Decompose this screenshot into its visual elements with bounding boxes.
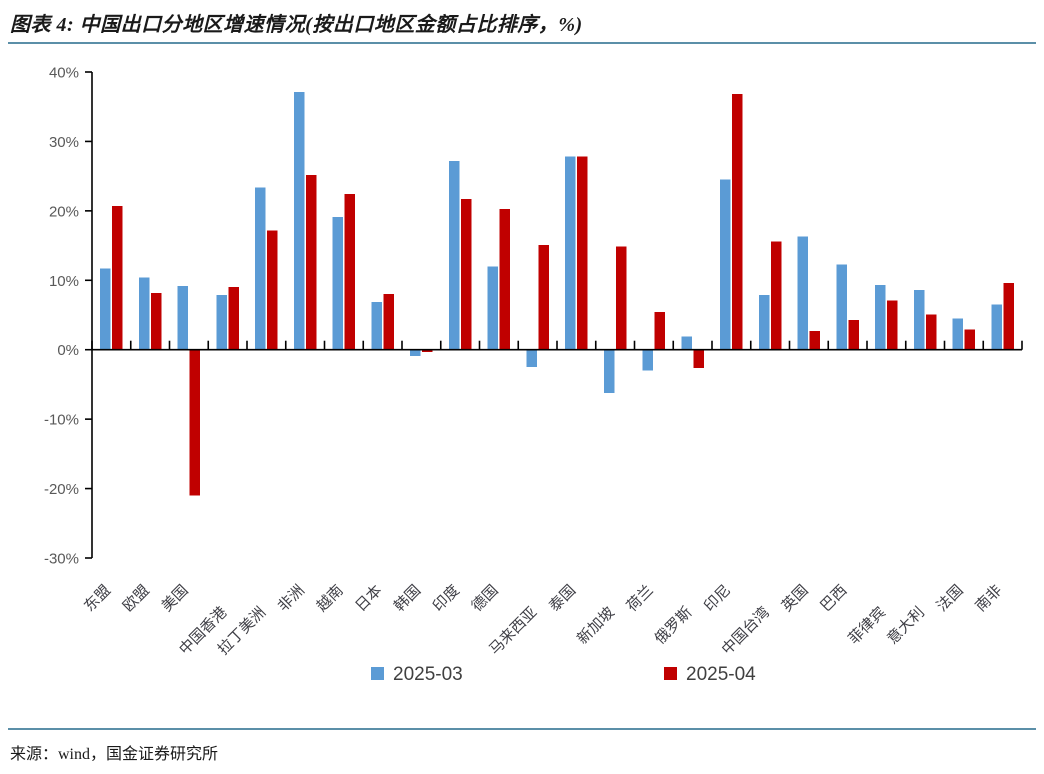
x-tick-label-欧盟: 欧盟 bbox=[120, 582, 153, 615]
y-tick-label: -20% bbox=[44, 481, 79, 498]
bar-2025-03-荷兰 bbox=[643, 350, 654, 371]
bar-2025-04-中国台湾 bbox=[771, 241, 782, 349]
bar-2025-03-南非 bbox=[991, 305, 1002, 350]
bar-2025-04-美国 bbox=[190, 350, 201, 496]
bar-2025-04-东盟 bbox=[112, 206, 123, 350]
bar-2025-04-马来西亚 bbox=[538, 245, 549, 350]
x-tick-label-东盟: 东盟 bbox=[81, 582, 114, 615]
bar-2025-03-韩国 bbox=[410, 350, 421, 356]
x-tick-label-英国: 英国 bbox=[778, 581, 812, 615]
x-tick-label-日本: 日本 bbox=[352, 582, 385, 615]
bar-2025-03-印度 bbox=[449, 161, 460, 350]
x-tick-label-泰国: 泰国 bbox=[546, 582, 579, 615]
x-tick-label-意大利: 意大利 bbox=[883, 603, 928, 648]
bar-2025-04-巴西 bbox=[848, 320, 859, 350]
header-divider bbox=[8, 42, 1036, 44]
source-note: 来源：wind，国金证券研究所 bbox=[10, 740, 218, 764]
chart-legend: 2025-032025-04 bbox=[371, 664, 756, 685]
bar-2025-04-法国 bbox=[965, 330, 976, 350]
bar-2025-04-菲律宾 bbox=[887, 300, 898, 349]
bar-2025-04-日本 bbox=[383, 294, 394, 350]
bar-2025-03-泰国 bbox=[565, 157, 576, 350]
bar-2025-03-英国 bbox=[798, 237, 809, 350]
x-tick-labels: 东盟欧盟美国中国香港拉丁美洲非洲越南日本韩国印度德国马来西亚泰国新加坡荷兰俄罗斯… bbox=[81, 581, 1005, 658]
bar-2025-04-新加坡 bbox=[616, 246, 627, 349]
x-tick-label-中国台湾: 中国台湾 bbox=[718, 604, 772, 658]
x-tick-label-德国: 德国 bbox=[468, 581, 502, 615]
chart-header: 图表 4: 中国出口分地区增速情况(按出口地区金额占比排序，%) bbox=[0, 0, 1044, 46]
bar-2025-04-拉丁美洲 bbox=[267, 230, 278, 349]
x-tick-label-荷兰: 荷兰 bbox=[623, 582, 656, 615]
bar-2025-03-越南 bbox=[333, 217, 344, 350]
x-tick-label-俄罗斯: 俄罗斯 bbox=[652, 604, 696, 648]
bar-2025-04-德国 bbox=[500, 209, 511, 350]
bar-2025-04-印度 bbox=[461, 199, 472, 350]
y-axis: 40%30%20%10%0%-10%-20%-30% bbox=[44, 65, 92, 568]
chart-page: 图表 4: 中国出口分地区增速情况(按出口地区金额占比排序，%) 40%30%2… bbox=[0, 0, 1044, 774]
x-tick-label-菲律宾: 菲律宾 bbox=[845, 604, 889, 648]
x-tick-label-美国: 美国 bbox=[158, 582, 191, 615]
x-tick-label-印度: 印度 bbox=[430, 582, 463, 615]
legend-swatch-2025-03 bbox=[371, 667, 384, 680]
bar-2025-04-南非 bbox=[1003, 283, 1014, 350]
bars-layer bbox=[100, 92, 1014, 495]
y-tick-label: -10% bbox=[44, 412, 79, 429]
bar-2025-03-东盟 bbox=[100, 268, 111, 349]
bar-2025-03-非洲 bbox=[294, 92, 305, 350]
x-tick-label-印尼: 印尼 bbox=[701, 582, 734, 615]
x-tick-label-南非: 南非 bbox=[972, 582, 1005, 615]
bar-2025-04-中国香港 bbox=[228, 287, 239, 349]
legend-label-2025-04: 2025-04 bbox=[686, 664, 756, 685]
x-tick-label-新加坡: 新加坡 bbox=[574, 604, 618, 648]
bar-2025-03-俄罗斯 bbox=[681, 337, 692, 350]
bar-2025-04-荷兰 bbox=[655, 312, 666, 349]
bar-2025-04-印尼 bbox=[732, 94, 743, 350]
page-title: 图表 4: 中国出口分地区增速情况(按出口地区金额占比排序，%) bbox=[10, 8, 583, 37]
bar-2025-03-菲律宾 bbox=[875, 285, 886, 350]
x-tick-label-非洲: 非洲 bbox=[275, 582, 308, 615]
bar-2025-03-法国 bbox=[953, 318, 964, 349]
y-tick-label: 0% bbox=[57, 342, 79, 359]
bar-2025-03-美国 bbox=[178, 286, 189, 350]
x-tick-label-韩国: 韩国 bbox=[391, 582, 424, 615]
legend-label-2025-03: 2025-03 bbox=[393, 664, 463, 685]
bar-chart: 40%30%20%10%0%-10%-20%-30% 东盟欧盟美国中国香港拉丁美… bbox=[0, 46, 1044, 728]
y-tick-label: 40% bbox=[49, 65, 79, 82]
bar-2025-04-意大利 bbox=[926, 314, 937, 349]
y-tick-label: 20% bbox=[49, 203, 79, 220]
bar-2025-04-俄罗斯 bbox=[693, 350, 704, 368]
bar-2025-04-欧盟 bbox=[151, 293, 162, 350]
x-tick-label-越南: 越南 bbox=[313, 582, 346, 615]
bar-2025-03-新加坡 bbox=[604, 350, 615, 393]
bar-2025-03-德国 bbox=[488, 266, 499, 349]
bar-2025-04-泰国 bbox=[577, 157, 588, 350]
footer-divider bbox=[8, 728, 1036, 730]
bar-2025-03-马来西亚 bbox=[526, 350, 537, 367]
legend-swatch-2025-04 bbox=[664, 667, 677, 680]
y-tick-label: -30% bbox=[44, 551, 79, 568]
bar-2025-04-越南 bbox=[345, 194, 356, 350]
bar-2025-04-英国 bbox=[810, 331, 821, 350]
bar-2025-03-中国香港 bbox=[216, 295, 227, 350]
chart-plot-area: 40%30%20%10%0%-10%-20%-30% 东盟欧盟美国中国香港拉丁美… bbox=[0, 46, 1044, 728]
y-tick-label: 30% bbox=[49, 134, 79, 151]
bar-2025-03-日本 bbox=[371, 302, 382, 350]
x-tick-label-法国: 法国 bbox=[933, 582, 966, 615]
bar-2025-03-拉丁美洲 bbox=[255, 187, 266, 349]
x-tick-label-巴西: 巴西 bbox=[818, 583, 851, 616]
bar-2025-03-印尼 bbox=[720, 180, 731, 350]
bar-2025-03-中国台湾 bbox=[759, 295, 770, 350]
bar-2025-03-巴西 bbox=[836, 264, 847, 349]
bar-2025-03-意大利 bbox=[914, 290, 925, 350]
y-tick-label: 10% bbox=[49, 273, 79, 290]
bar-2025-04-非洲 bbox=[306, 175, 317, 350]
bar-2025-03-欧盟 bbox=[139, 278, 150, 350]
x-tick-label-马来西亚: 马来西亚 bbox=[486, 604, 540, 658]
